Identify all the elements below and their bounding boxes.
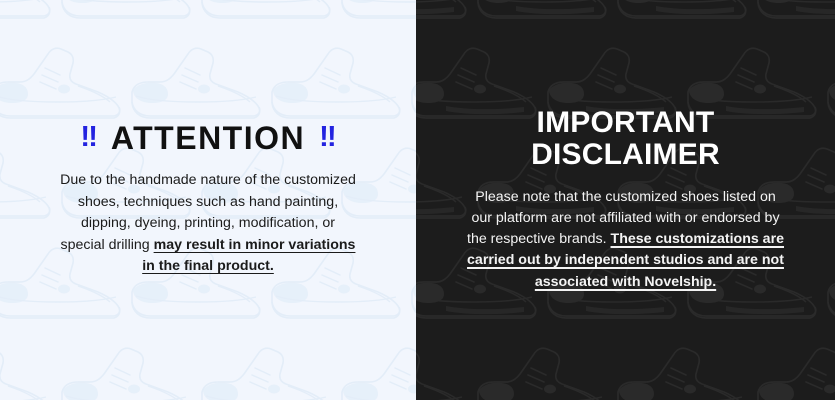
attention-heading-word: ATTENTION bbox=[111, 122, 305, 154]
disclaimer-heading: IMPORTANT DISCLAIMER bbox=[531, 107, 720, 171]
attention-body-text: Due to the handmade nature of the custom… bbox=[58, 170, 358, 278]
attention-body-emphasized: may result in minor variations in the fi… bbox=[142, 237, 355, 275]
disclaimer-content: IMPORTANT DISCLAIMER Please note that th… bbox=[416, 0, 835, 400]
attention-heading: ‼ ATTENTION ‼ bbox=[80, 122, 335, 154]
attention-content: ‼ ATTENTION ‼ Due to the handmade nature… bbox=[0, 0, 416, 400]
double-exclamation-icon-right: ‼ bbox=[319, 123, 336, 152]
disclaimer-heading-line2: DISCLAIMER bbox=[531, 139, 720, 171]
disclaimer-body-text: Please note that the customized shoes li… bbox=[466, 187, 786, 293]
disclaimer-panel: IMPORTANT DISCLAIMER Please note that th… bbox=[416, 0, 835, 400]
customization-notice-banner: ‼ ATTENTION ‼ Due to the handmade nature… bbox=[0, 0, 835, 400]
double-exclamation-icon-left: ‼ bbox=[80, 123, 97, 152]
disclaimer-heading-line1: IMPORTANT bbox=[531, 107, 720, 139]
attention-panel: ‼ ATTENTION ‼ Due to the handmade nature… bbox=[0, 0, 416, 400]
